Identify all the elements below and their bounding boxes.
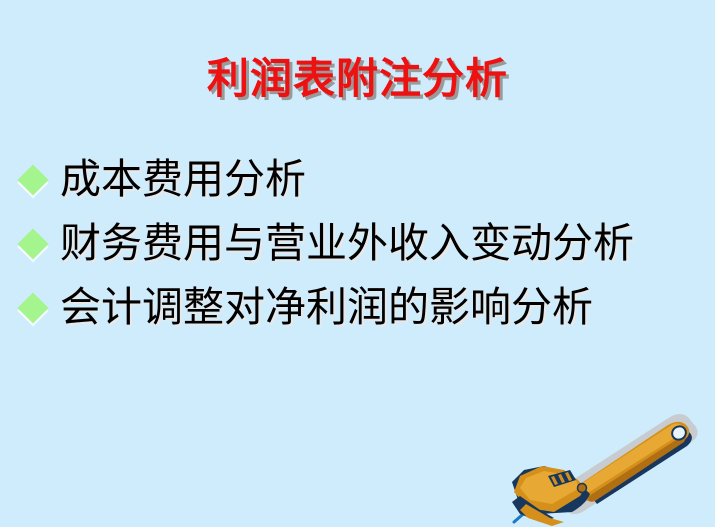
list-item: 会计调整对净利润的影响分析: [22, 276, 702, 340]
diamond-bullet-icon: [17, 228, 48, 259]
list-item-label: 成本费用分析: [60, 158, 702, 201]
pivot-rivet: [578, 484, 587, 493]
wrench-illustration: [494, 392, 715, 527]
list-item-label: 会计调整对净利润的影响分析: [60, 286, 702, 329]
title-block: 利润表附注分析: [0, 56, 715, 101]
list-item-label: 财务费用与营业外收入变动分析: [60, 222, 702, 265]
diamond-bullet-icon: [17, 292, 48, 323]
list-item: 财务费用与营业外收入变动分析: [22, 212, 702, 276]
list-item: 成本费用分析: [22, 148, 702, 212]
presentation-slide: 利润表附注分析 成本费用分析 财务费用与营业外收入变动分析 会计调整对净利润的影…: [0, 0, 715, 527]
adjustable-wrench-icon: [494, 392, 715, 527]
diamond-bullet-icon: [17, 164, 48, 195]
page-title: 利润表附注分析: [207, 56, 508, 101]
bullet-list: 成本费用分析 财务费用与营业外收入变动分析 会计调整对净利润的影响分析: [22, 148, 702, 340]
